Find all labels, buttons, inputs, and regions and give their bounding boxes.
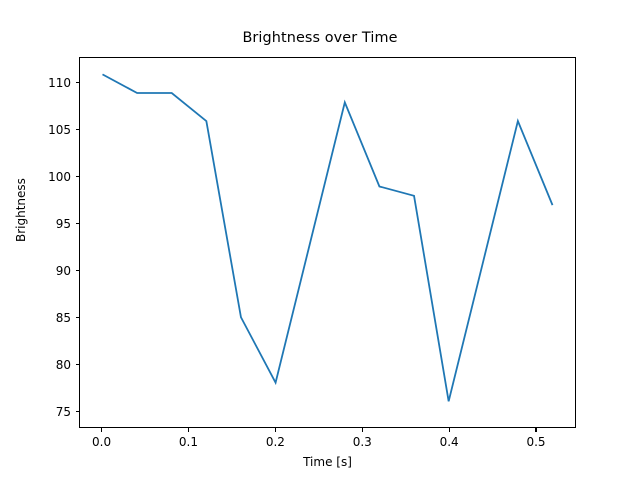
y-tick-label: 95	[17, 217, 71, 231]
y-tick-label: 90	[17, 264, 71, 278]
x-tick-label: 0.3	[353, 435, 372, 449]
x-tick-mark	[275, 428, 276, 432]
x-tick-mark	[101, 428, 102, 432]
data-line-chart	[80, 58, 575, 427]
y-axis-label: Brightness	[14, 178, 28, 242]
x-tick-label: 0.1	[179, 435, 198, 449]
y-tick-label: 105	[17, 123, 71, 137]
y-tick-label: 85	[17, 311, 71, 325]
x-tick-mark	[188, 428, 189, 432]
x-tick-label: 0.2	[266, 435, 285, 449]
x-tick-label: 0.4	[440, 435, 459, 449]
plot-area	[79, 57, 576, 428]
y-tick-label: 75	[17, 405, 71, 419]
y-tick-label: 100	[17, 170, 71, 184]
x-tick-label: 0.0	[92, 435, 111, 449]
chart-title: Brightness over Time	[0, 30, 640, 46]
x-tick-mark	[535, 428, 536, 432]
y-tick-label: 110	[17, 76, 71, 90]
figure-canvas: Brightness over Time Brightness Time [s]…	[0, 0, 640, 480]
brightness-series-line	[102, 74, 552, 401]
x-tick-mark	[362, 428, 363, 432]
x-tick-label: 0.5	[526, 435, 545, 449]
y-tick-label: 80	[17, 358, 71, 372]
x-axis-label: Time [s]	[79, 455, 576, 469]
x-tick-mark	[449, 428, 450, 432]
